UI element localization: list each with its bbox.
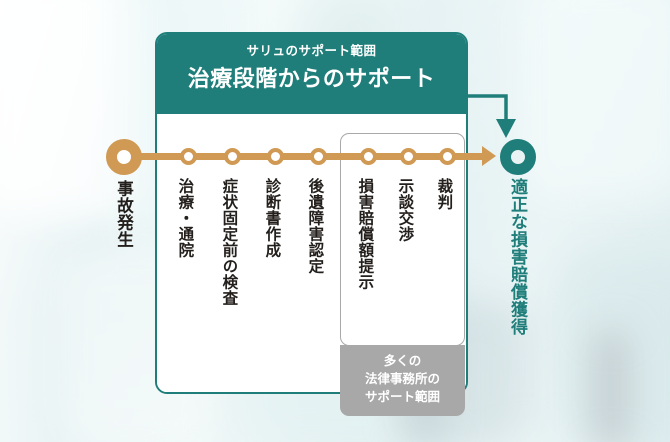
infographic-canvas: サリュのサポート範囲 治療段階からのサポート 多くの 法律事務所の サポート範囲… xyxy=(0,0,670,442)
caption-line-3: サポート範囲 xyxy=(340,388,465,406)
label-step-2: 症状固定前の検査 xyxy=(220,178,236,306)
label-step-6: 示談交渉 xyxy=(396,178,412,242)
card-subtitle: サリュのサポート範囲 xyxy=(157,45,466,59)
card-title: 治療段階からのサポート xyxy=(157,66,466,91)
elbow-arrow-down-icon xyxy=(462,86,528,144)
law-firm-scope-caption: 多くの 法律事務所の サポート範囲 xyxy=(340,345,465,416)
label-accident: 事故発生 xyxy=(114,180,131,248)
label-step-7: 裁判 xyxy=(435,178,451,210)
label-result: 適正な損害賠償獲得 xyxy=(508,178,526,336)
label-step-4: 後遺障害認定 xyxy=(306,178,322,274)
label-step-3: 診断書作成 xyxy=(263,178,279,258)
card-header: サリュのサポート範囲 治療段階からのサポート xyxy=(157,34,466,114)
background-blur-shape xyxy=(596,330,626,442)
label-step-1: 治療・通院 xyxy=(176,178,192,258)
caption-line-1: 多くの xyxy=(340,352,465,370)
label-step-5: 損害賠償額提示 xyxy=(356,178,372,290)
caption-line-2: 法律事務所の xyxy=(340,370,465,388)
background-blur-shape xyxy=(520,0,670,200)
